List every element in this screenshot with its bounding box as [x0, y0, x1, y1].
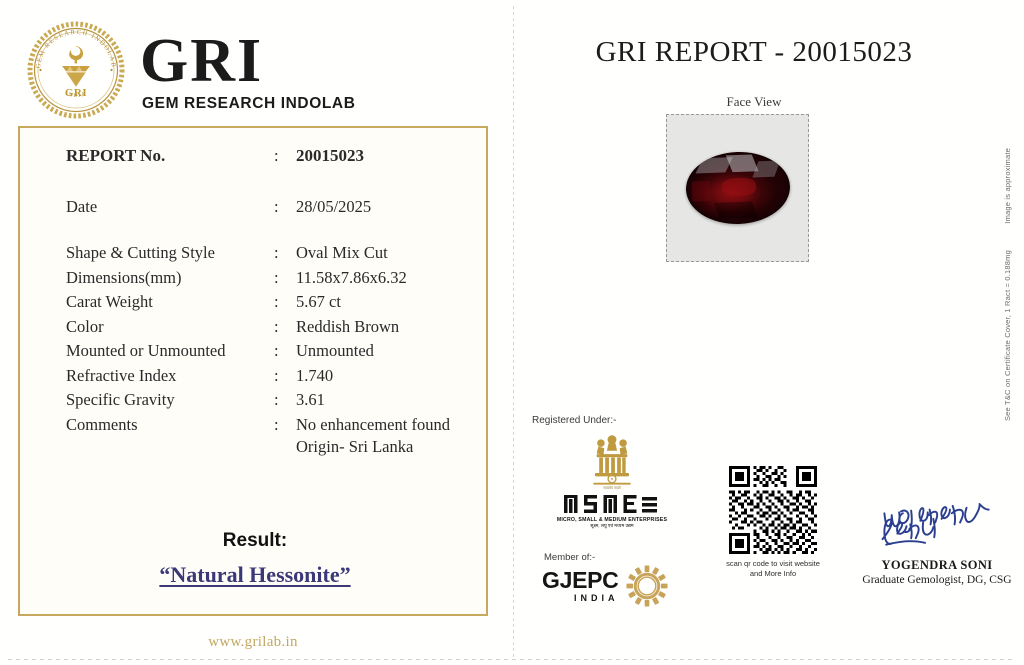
gem-photo-frame [666, 114, 809, 262]
brand-wordmark: GRI GEM RESEARCH INDOLAB [140, 30, 356, 113]
row-value: Reddish Brown [296, 315, 399, 340]
signatory-name: YOGENDRA SONI [852, 558, 1022, 573]
row-label: Color [66, 315, 274, 340]
gjepc-logo-icon [625, 564, 669, 608]
signatory-title: Graduate Gemologist, DG, CSG [852, 574, 1022, 586]
row-separator: : [274, 197, 296, 217]
svg-text:सत्यमेव जयते: सत्यमेव जयते [603, 485, 621, 490]
row-separator: : [274, 339, 296, 364]
gri-seal-icon: GEM RESEARCH INDOLAB INDIA GRI [26, 20, 126, 120]
row-separator: : [274, 388, 296, 413]
certificate-page: GEM RESEARCH INDOLAB INDIA GRI GRI [0, 0, 1024, 665]
table-row-refractive-index: Refractive Index : 1.740 [66, 364, 476, 389]
row-value: 1.740 [296, 364, 333, 389]
table-row-report-no: REPORT No. : 20015023 [66, 146, 476, 166]
website-url[interactable]: www.grilab.in [0, 634, 506, 651]
note-image-approximate: Image is approximate [1003, 148, 1012, 224]
table-row-mounted: Mounted or Unmounted : Unmounted [66, 339, 476, 364]
row-value: Origin- Sri Lanka [296, 437, 413, 457]
msme-subtitle-hindi: सूक्ष्म, लघु एवं मध्यम उद्यम [556, 523, 668, 529]
gjepc-name: GJEPC [542, 569, 618, 592]
gjepc-country: INDIA [542, 593, 618, 603]
row-label: Mounted or Unmounted [66, 339, 274, 364]
table-row-carat-weight: Carat Weight : 5.67 ct [66, 290, 476, 315]
table-row-comments: Comments : No enhancement found [66, 413, 476, 438]
gem-facet [752, 161, 780, 178]
qr-code-block[interactable]: scan qr code to visit website and More I… [713, 466, 833, 579]
qr-code-icon[interactable] [729, 466, 817, 554]
row-value: No enhancement found [296, 413, 450, 438]
row-value: 28/05/2025 [296, 197, 371, 217]
row-separator: : [274, 146, 296, 166]
row-label: REPORT No. [66, 146, 274, 166]
gem-facet [721, 177, 756, 196]
msme-logo-icon [562, 492, 662, 516]
gem-facet [725, 154, 758, 172]
row-value: 3.61 [296, 388, 325, 413]
brand-gri-text: GRI [140, 30, 356, 92]
row-value: Unmounted [296, 339, 374, 364]
row-label: Date [66, 197, 274, 217]
table-row-comments-continuation: Origin- Sri Lanka [66, 437, 476, 457]
row-value: 5.67 ct [296, 290, 341, 315]
ashoka-emblem-icon: सत्यमेव जयते [586, 432, 638, 490]
row-value: 11.58x7.86x6.32 [296, 266, 407, 291]
row-value: Oval Mix Cut [296, 241, 388, 266]
face-view-label: Face View [514, 94, 994, 110]
row-value: 20015023 [296, 146, 364, 166]
table-row-dimensions: Dimensions(mm) : 11.58x7.86x6.32 [66, 266, 476, 291]
qr-caption-line1: scan qr code to visit website [726, 559, 820, 568]
gemstone-image [684, 150, 790, 226]
row-label: Comments [66, 413, 274, 438]
table-row-color: Color : Reddish Brown [66, 315, 476, 340]
right-panel: GRI REPORT - 20015023 Face View Image is… [514, 0, 1024, 665]
member-of-block: Member of:- GJEPC INDIA [528, 552, 703, 608]
signatory-block: YOGENDRA SONI Graduate Gemologist, DG, C… [852, 500, 1022, 586]
svg-text:GRI: GRI [65, 87, 87, 99]
table-row-date: Date : 28/05/2025 [66, 197, 476, 217]
report-details-table: REPORT No. : 20015023 Date : 28/05/2025 … [66, 146, 476, 457]
brand-header: GEM RESEARCH INDOLAB INDIA GRI GRI [22, 18, 492, 118]
qr-caption-line2: and More Info [750, 569, 796, 578]
registered-under-block: Registered Under:- [532, 415, 692, 529]
result-section: Result: “Natural Hessonite” [20, 530, 490, 588]
page-title: GRI REPORT - 20015023 [514, 36, 994, 69]
row-label: Shape & Cutting Style [66, 241, 274, 266]
brand-tagline: GEM RESEARCH INDOLAB [140, 95, 356, 113]
signature-icon [877, 500, 997, 558]
member-of-caption: Member of:- [544, 552, 703, 563]
gem-facet [713, 202, 757, 219]
row-separator: : [274, 266, 296, 291]
table-row-specific-gravity: Specific Gravity : 3.61 [66, 388, 476, 413]
row-label: Refractive Index [66, 364, 274, 389]
row-label: Carat Weight [66, 290, 274, 315]
report-details-box: REPORT No. : 20015023 Date : 28/05/2025 … [18, 126, 488, 616]
table-row-shape: Shape & Cutting Style : Oval Mix Cut [66, 241, 476, 266]
row-separator: : [274, 290, 296, 315]
qr-caption: scan qr code to visit website and More I… [713, 559, 833, 579]
row-separator: : [274, 364, 296, 389]
registered-under-caption: Registered Under:- [532, 415, 692, 426]
row-separator: : [274, 315, 296, 340]
result-value: “Natural Hessonite” [20, 562, 490, 588]
left-panel: GEM RESEARCH INDOLAB INDIA GRI GRI [0, 0, 513, 665]
result-label: Result: [20, 530, 490, 552]
row-label: Dimensions(mm) [66, 266, 274, 291]
row-separator: : [274, 241, 296, 266]
row-label: Specific Gravity [66, 388, 274, 413]
note-terms-conditions: See T&C on Certificate Cover, 1 Ract = 0… [1003, 250, 1012, 421]
row-separator: : [274, 413, 296, 438]
gem-facet [691, 181, 710, 202]
